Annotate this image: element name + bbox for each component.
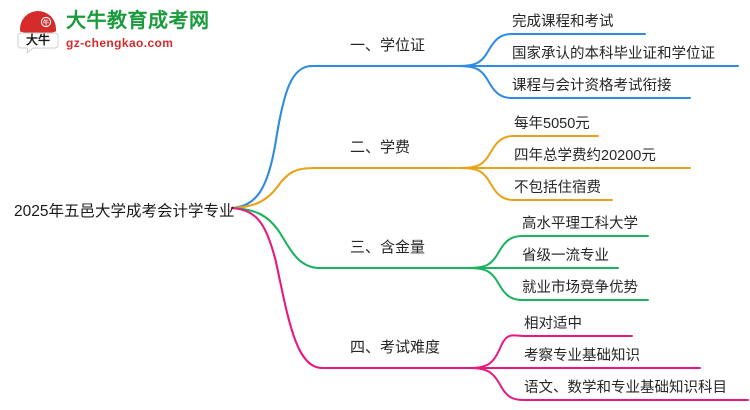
branch-1-main-curve [232,66,458,208]
mindmap-page: 大牛 牛 大牛教育成考网 gz-chengkao.com [0,0,750,410]
root-node-label[interactable]: 2025年五邑大学成考会计学专业 [14,199,234,221]
branch-2-child-1-label[interactable]: 每年5050元 [514,112,590,133]
branch-2-main-curve [232,168,460,208]
branch-4-child-3-label[interactable]: 语文、数学和专业基础知识科目 [524,376,727,397]
branch-3-child-1-label[interactable]: 高水平理工科大学 [522,212,638,233]
branch-1-child-3-label[interactable]: 课程与会计资格考试衔接 [512,74,672,95]
branch-3-child-2-label[interactable]: 省级一流专业 [522,244,609,265]
branch-4-label[interactable]: 四、考试难度 [350,336,440,357]
branch-1-label[interactable]: 一、学位证 [350,34,425,55]
branch-1-child-1-label[interactable]: 完成课程和考试 [512,10,614,31]
branch-2-child-2-label[interactable]: 四年总学费约20200元 [514,144,656,165]
branch-1-child-2-label[interactable]: 国家承认的本科毕业证和学位证 [512,42,715,63]
branch-3-child-3-label[interactable]: 就业市场竞争优势 [522,276,638,297]
branch-4-child-2-label[interactable]: 考察专业基础知识 [524,344,640,365]
branch-4-connectors [232,208,748,400]
branch-2-label[interactable]: 二、学费 [350,136,410,157]
branch-3-label[interactable]: 三、含金量 [350,236,425,257]
branch-2-child-3-label[interactable]: 不包括住宿费 [514,176,601,197]
branch-4-child-1-label[interactable]: 相对适中 [524,312,582,333]
